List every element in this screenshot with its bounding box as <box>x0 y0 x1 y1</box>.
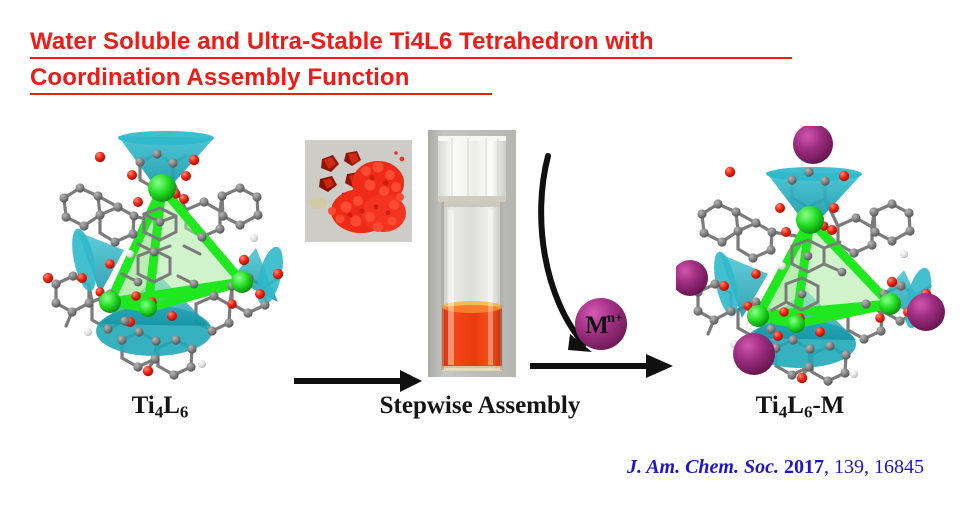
metal-ion-label-superscript: n+ <box>607 311 623 326</box>
cone-top-rim <box>118 131 214 145</box>
bound-ion-bottom <box>733 333 775 375</box>
metal-ion-label-main: M <box>585 312 609 339</box>
ti4l6-structure-svg <box>26 126 296 391</box>
title-line-2-text: Coordination Assembly Function <box>30 64 409 91</box>
title-line-2: Coordination Assembly Function <box>30 64 830 95</box>
assembly-arrow-2-svg <box>528 148 673 393</box>
title-line-1: Water Soluble and Ultra-Stable Ti4L6 Tet… <box>30 28 830 59</box>
metal-ion-svg: M n+ <box>573 296 629 352</box>
graphical-abstract-figure: M n+ <box>0 118 960 418</box>
vial-photograph <box>428 130 516 377</box>
crystal-photograph <box>305 140 412 242</box>
assembly-arrow-2 <box>528 148 673 393</box>
ti4l6-m-structure-svg <box>676 126 946 391</box>
graphical-abstract-title: Water Soluble and Ultra-Stable Ti4L6 Tet… <box>30 28 830 100</box>
caption-right-text: Ti4L6-M <box>756 392 845 419</box>
citation-journal: J. Am. Chem. Soc. <box>627 456 779 478</box>
caption-left-text: Ti4L6 <box>132 392 189 419</box>
journal-citation: J. Am. Chem. Soc. 2017, 139, 16845 <box>627 456 924 479</box>
citation-rest: , 139, 16845 <box>824 456 924 478</box>
caption-middle: Stepwise Assembly <box>320 392 640 420</box>
citation-year: 2017 <box>784 456 824 478</box>
crystal-photo-svg <box>306 141 411 241</box>
ti4l6-m-structure-image <box>676 126 946 391</box>
caption-right: Ti4L6-M <box>640 392 960 422</box>
caption-middle-text: Stepwise Assembly <box>380 392 581 419</box>
metal-ion-sphere: M n+ <box>573 296 629 352</box>
bound-ion-top <box>793 126 833 164</box>
ti4l6-structure-image <box>26 126 296 391</box>
caption-left: Ti4L6 <box>0 392 320 422</box>
vial-photo-svg <box>428 130 516 377</box>
title-line-1-text: Water Soluble and Ultra-Stable Ti4L6 Tet… <box>30 28 654 55</box>
bound-ion-right <box>907 293 945 331</box>
